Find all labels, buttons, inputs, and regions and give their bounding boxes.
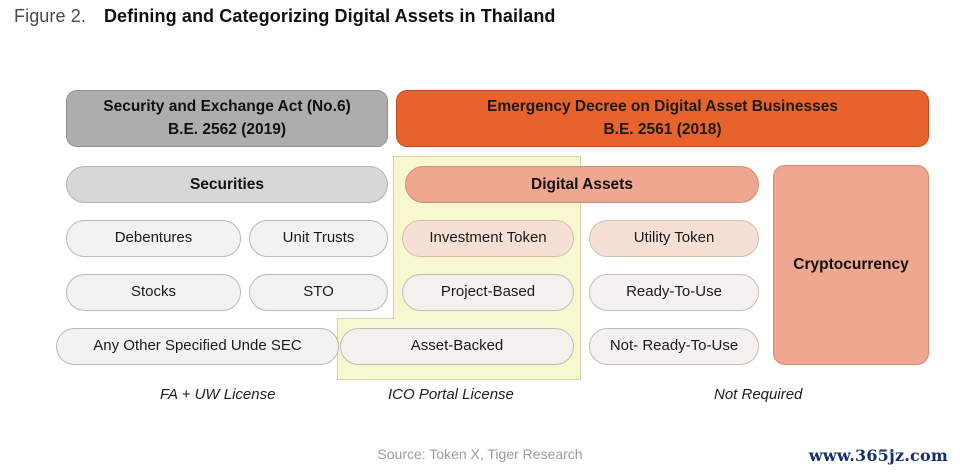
item-unit-trusts: Unit Trusts xyxy=(249,220,388,257)
item-project-based: Project-Based xyxy=(402,274,574,311)
item-not-ready-to-use: Not- Ready-To-Use xyxy=(589,328,759,365)
diagram-canvas: Security and Exchange Act (No.6) B.E. 25… xyxy=(0,0,960,473)
license-label-not-required: Not Required xyxy=(714,386,802,403)
banner-emergency-decree-line2: B.E. 2561 (2018) xyxy=(603,119,721,141)
category-securities: Securities xyxy=(66,166,388,203)
item-sto: STO xyxy=(249,274,388,311)
banner-emergency-decree-line1: Emergency Decree on Digital Asset Busine… xyxy=(487,96,838,118)
license-label-fa-uw: FA + UW License xyxy=(160,386,275,403)
banner-securities-act-line2: B.E. 2562 (2019) xyxy=(168,119,286,141)
category-digital-assets: Digital Assets xyxy=(405,166,759,203)
item-any-other-specified-under-sec: Any Other Specified Unde SEC xyxy=(56,328,339,365)
item-debentures: Debentures xyxy=(66,220,241,257)
item-utility-token: Utility Token xyxy=(589,220,759,257)
license-label-ico-portal: ICO Portal License xyxy=(388,386,514,403)
ico-portal-highlight-zone-seam xyxy=(394,314,580,322)
category-cryptocurrency: Cryptocurrency xyxy=(773,165,929,365)
banner-emergency-decree: Emergency Decree on Digital Asset Busine… xyxy=(396,90,929,147)
banner-securities-act: Security and Exchange Act (No.6) B.E. 25… xyxy=(66,90,388,147)
item-investment-token: Investment Token xyxy=(402,220,574,257)
item-stocks: Stocks xyxy=(66,274,241,311)
item-ready-to-use: Ready-To-Use xyxy=(589,274,759,311)
banner-securities-act-line1: Security and Exchange Act (No.6) xyxy=(103,96,351,118)
item-asset-backed: Asset-Backed xyxy=(340,328,574,365)
watermark-url: www.365jz.com xyxy=(809,446,948,465)
